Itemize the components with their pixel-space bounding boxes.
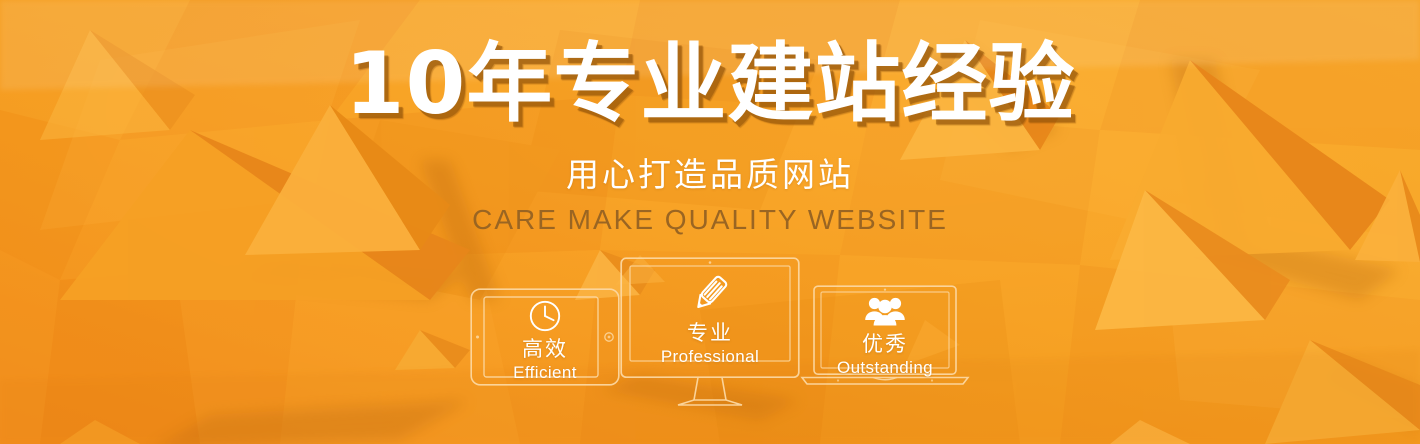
feature-label-cn-efficient: 高效 [522, 337, 568, 361]
feature-card-monitor[interactable]: 专业 Professional [620, 257, 800, 422]
subtitle: 用心打造品质网站 [0, 155, 1420, 195]
promo-banner: 10年专业建站经验 用心打造品质网站 CARE MAKE QUALITY WEB… [0, 0, 1420, 444]
feature-label-cn-outstanding: 优秀 [862, 332, 908, 356]
feature-label-cn-professional: 专业 [687, 321, 733, 345]
pencil-icon [687, 271, 733, 317]
feature-label-en-outstanding: Outstanding [837, 358, 933, 378]
feature-label-en-professional: Professional [661, 347, 759, 367]
group-people-icon [863, 294, 907, 328]
feature-devices-row: 高效 Efficient [0, 250, 1420, 420]
feature-card-laptop[interactable]: 优秀 Outstanding [800, 285, 970, 395]
feature-card-tablet[interactable]: 高效 Efficient [470, 288, 620, 386]
tagline: CARE MAKE QUALITY WEBSITE [0, 203, 1420, 237]
clock-icon [528, 299, 562, 333]
feature-label-en-efficient: Efficient [513, 363, 577, 383]
page-title: 10年专业建站经验 [0, 38, 1420, 131]
